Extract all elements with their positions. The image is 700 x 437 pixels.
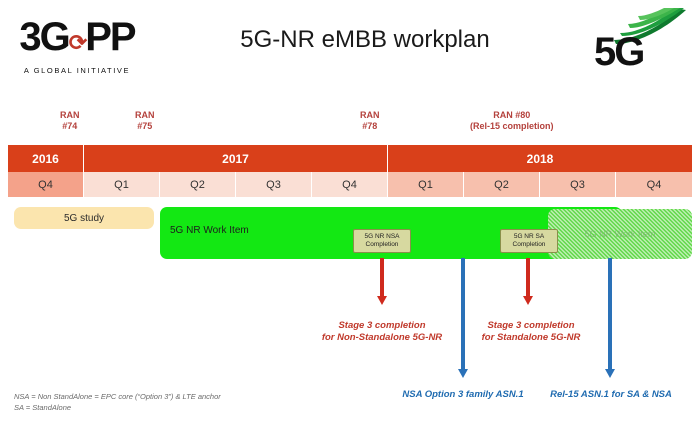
ran-label-line-1: RAN: [135, 110, 155, 121]
timeline-axis: 201620172018 Q4Q1Q2Q3Q4Q1Q2Q3Q4: [8, 145, 692, 197]
ran-label-ran-74: RAN#74: [60, 110, 80, 132]
chip-nsa-completion[interactable]: 5G NR NSACompletion: [353, 229, 411, 253]
timeline-quarter-2017-Q1: Q1: [84, 172, 160, 197]
bar-future-work-label: 5G NR Work Item: [585, 229, 656, 239]
timeline-quarter-2018-Q3: Q3: [540, 172, 616, 197]
chip-line-1: 5G NR SA: [514, 233, 544, 241]
ran-label-line-2: #74: [60, 121, 80, 132]
ran-label-line-2: #75: [135, 121, 155, 132]
logo-3gpp-mark-text: 3G: [19, 15, 68, 59]
arrow-stage3-sa: [526, 258, 530, 305]
ran-label-ran-78: RAN#78: [360, 110, 380, 132]
ran-label-line-2: #78: [360, 121, 380, 132]
chip-line-2: Completion: [513, 241, 546, 249]
chip-sa-completion[interactable]: 5G NR SACompletion: [500, 229, 558, 253]
ran-label-ran-80: RAN #80(Rel-15 completion): [470, 110, 554, 132]
timeline-year-row: 201620172018: [8, 145, 692, 172]
ran-label-line-1: RAN: [60, 110, 80, 121]
timeline-year-2017: 2017: [84, 145, 388, 172]
timeline-quarter-2018-Q2: Q2: [464, 172, 540, 197]
footnote-line-1: NSA = Non StandAlone = EPC core (“Option…: [14, 391, 221, 402]
arrow-stage3-nsa: [380, 258, 384, 305]
arrow-shaft: [380, 258, 384, 297]
timeline-quarter-2017-Q4: Q4: [312, 172, 388, 197]
header: 3G⟳PP A GLOBAL INITIATIVE 5G-NR eMBB wor…: [0, 0, 700, 100]
caption-line-2: for Standalone 5G-NR: [431, 332, 631, 344]
ran-label-ran-75: RAN#75: [135, 110, 155, 132]
gantt-bars: 5G study 5G NR Work Item 5G NR Work Item: [0, 205, 700, 263]
caption-asn1-rel15: Rel-15 ASN.1 for SA & NSA: [511, 389, 700, 401]
bar-future-work[interactable]: 5G NR Work Item: [548, 209, 692, 259]
arrow-asn1-nsa: [461, 258, 465, 378]
timeline-quarter-2016-Q4: Q4: [8, 172, 84, 197]
timeline-quarter-2017-Q2: Q2: [160, 172, 236, 197]
ran-label-line-2: (Rel-15 completion): [470, 121, 554, 132]
footnote-legend: NSA = Non StandAlone = EPC core (“Option…: [14, 391, 221, 413]
arrow-shaft: [461, 258, 465, 370]
bar-5g-nr-work-item-label: 5G NR Work Item: [170, 225, 249, 236]
arrow-head-icon: [523, 296, 533, 305]
arrow-shaft: [526, 258, 530, 297]
chip-line-2: Completion: [366, 241, 399, 249]
ran-label-line-1: RAN #80: [470, 110, 554, 121]
arrow-head-icon: [605, 369, 615, 378]
logo-5g: 5G: [594, 8, 686, 74]
bar-5g-study[interactable]: 5G study: [14, 207, 154, 229]
ran-label-line-1: RAN: [360, 110, 380, 121]
logo-3gpp-tagline: A GLOBAL INITIATIVE: [12, 66, 142, 75]
footnote-line-2: SA = StandAlone: [14, 402, 221, 413]
timeline-year-2018: 2018: [388, 145, 692, 172]
logo-3gpp-mark: 3G⟳PP: [12, 12, 142, 62]
page-title: 5G-NR eMBB workplan: [200, 26, 530, 54]
timeline-quarter-row: Q4Q1Q2Q3Q4Q1Q2Q3Q4: [8, 172, 692, 197]
arrow-head-icon: [377, 296, 387, 305]
timeline-year-2016: 2016: [8, 145, 84, 172]
caption-line-1: Stage 3 completion: [431, 320, 631, 332]
caption-line-1: Rel-15 ASN.1 for SA & NSA: [511, 389, 700, 401]
logo-5g-text: 5G: [594, 32, 643, 72]
chip-line-1: 5G NR NSA: [364, 233, 399, 241]
logo-3gpp-swish-icon: ⟳: [69, 30, 85, 55]
arrow-head-icon: [458, 369, 468, 378]
caption-stage3-sa: Stage 3 completionfor Standalone 5G-NR: [431, 320, 631, 344]
arrow-asn1-rel15: [608, 258, 612, 378]
bar-5g-study-label: 5G study: [64, 213, 104, 224]
logo-3gpp-mark-text2: PP: [85, 15, 134, 59]
arrow-shaft: [608, 258, 612, 370]
timeline-quarter-2018-Q1: Q1: [388, 172, 464, 197]
timeline-quarter-2018-Q4: Q4: [616, 172, 692, 197]
logo-3gpp: 3G⟳PP A GLOBAL INITIATIVE: [12, 12, 142, 84]
timeline-quarter-2017-Q3: Q3: [236, 172, 312, 197]
